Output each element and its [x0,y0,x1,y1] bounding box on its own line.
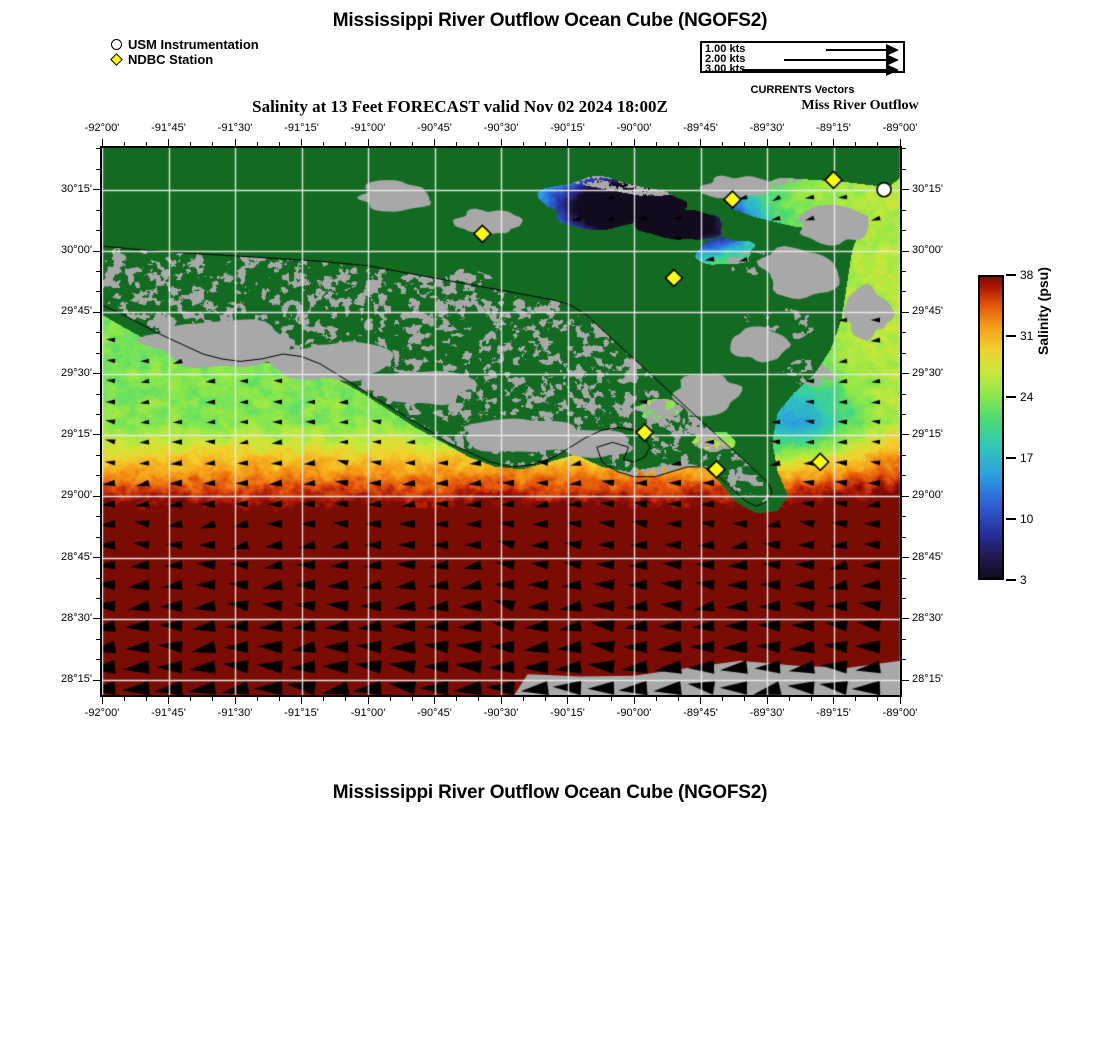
x-axis-label-top: -90°15' [536,122,600,134]
x-tick-bottom [368,697,369,704]
x-tick-bottom [478,697,479,701]
y-tick-right [902,271,906,272]
x-tick-bottom [124,697,125,701]
salinity-colorbar [978,275,1004,580]
salinity-field-canvas [102,148,900,695]
x-tick-top [434,139,435,146]
y-axis-label-right: 29°30' [912,367,966,379]
x-tick-bottom [877,697,878,701]
x-tick-top [900,139,901,146]
y-tick-left [93,251,100,252]
y-tick-right [902,475,906,476]
colorbar-tick-label: 3 [1020,574,1027,586]
colorbar-tick-label: 31 [1020,330,1033,342]
vector-key-row-3: 3.00 kts [702,65,903,75]
x-tick-bottom [744,697,745,701]
y-tick-right [902,373,909,374]
x-tick-bottom [567,697,568,704]
y-axis-label-left: 29°00' [38,489,92,501]
x-tick-bottom [146,697,147,701]
y-tick-right [902,516,906,517]
x-tick-bottom [767,697,768,704]
x-tick-bottom [456,697,457,701]
x-tick-top [678,142,679,146]
x-tick-bottom [301,697,302,704]
y-axis-label-right: 29°00' [912,489,966,501]
y-tick-left [93,557,100,558]
x-tick-bottom [833,697,834,704]
y-tick-left [93,373,100,374]
x-axis-label-bottom: -91°00' [336,707,400,719]
x-tick-top [611,142,612,146]
bottom-title: Mississippi River Outflow Ocean Cube (NG… [0,782,1100,804]
x-axis-label-bottom: -90°45' [403,707,467,719]
x-tick-bottom [855,697,856,701]
x-tick-bottom [190,697,191,701]
x-axis-label-bottom: -90°15' [536,707,600,719]
x-tick-top [567,139,568,146]
x-tick-bottom [611,697,612,701]
x-tick-top [146,142,147,146]
y-tick-right [902,659,906,660]
colorbar-tick-line [1006,274,1016,276]
page-title: Mississippi River Outflow Ocean Cube (NG… [0,10,1100,32]
legend-label-ndbc: NDBC Station [128,52,213,67]
y-tick-left [96,271,100,272]
x-axis-label-top: -91°45' [137,122,201,134]
y-tick-right [902,578,906,579]
y-tick-right [902,537,906,538]
legend-label-usm: USM Instrumentation [128,37,259,52]
x-tick-bottom [700,697,701,704]
x-tick-top [700,139,701,146]
x-tick-top [545,142,546,146]
y-tick-right [902,680,909,681]
y-tick-right [902,434,909,435]
x-axis-label-bottom: -91°45' [137,707,201,719]
y-axis-label-left: 28°30' [38,612,92,624]
y-tick-left [96,475,100,476]
x-tick-bottom [722,697,723,701]
y-tick-left [96,414,100,415]
x-tick-bottom [235,697,236,704]
colorbar-tick-label: 24 [1020,391,1033,403]
x-axis-label-bottom: -89°30' [735,707,799,719]
x-axis-label-bottom: -92°00' [70,707,134,719]
x-tick-top [589,142,590,146]
y-tick-left [96,169,100,170]
x-tick-bottom [412,697,413,701]
x-tick-top [212,142,213,146]
y-tick-right [902,210,906,211]
y-axis-label-left: 29°45' [38,305,92,317]
x-axis-label-top: -92°00' [70,122,134,134]
x-axis-label-top: -89°00' [868,122,932,134]
y-tick-left [93,680,100,681]
y-tick-right [902,639,906,640]
x-tick-bottom [323,697,324,701]
x-tick-bottom [589,697,590,701]
x-axis-label-bottom: -89°45' [669,707,733,719]
x-tick-top [323,142,324,146]
x-axis-label-bottom: -89°00' [868,707,932,719]
x-tick-bottom [212,697,213,701]
y-tick-left [93,312,100,313]
x-tick-bottom [257,697,258,701]
x-axis-label-bottom: -89°15' [802,707,866,719]
y-axis-label-left: 30°15' [38,183,92,195]
usm-circle-icon [110,38,124,52]
x-tick-top [390,142,391,146]
x-tick-top [722,142,723,146]
y-tick-left [96,353,100,354]
y-tick-right [902,230,906,231]
y-tick-right [902,312,909,313]
x-axis-label-bottom: -90°30' [469,707,533,719]
y-axis-label-left: 30°00' [38,244,92,256]
x-tick-top [855,142,856,146]
y-tick-right [902,353,906,354]
y-tick-left [96,148,100,149]
y-axis-label-left: 28°45' [38,551,92,563]
y-axis-label-right: 28°15' [912,673,966,685]
x-tick-top [523,142,524,146]
y-tick-right [902,148,906,149]
y-tick-left [96,639,100,640]
colorbar-tick-label: 10 [1020,513,1033,525]
x-tick-bottom [279,697,280,701]
x-axis-label-top: -89°15' [802,122,866,134]
x-tick-top [833,139,834,146]
y-tick-left [96,332,100,333]
x-tick-top [767,139,768,146]
colorbar-tick-label: 38 [1020,269,1033,281]
vector-arrowhead-3 [886,64,899,76]
x-tick-bottom [545,697,546,701]
x-axis-label-bottom: -91°30' [203,707,267,719]
y-axis-label-right: 29°45' [912,305,966,317]
x-tick-top [744,142,745,146]
colorbar-tick-line [1006,579,1016,581]
y-tick-left [96,578,100,579]
x-tick-bottom [789,697,790,701]
x-tick-bottom [501,697,502,704]
x-tick-top [301,139,302,146]
x-tick-top [634,139,635,146]
y-tick-right [902,598,906,599]
panel-label: Miss River Outflow [760,98,960,114]
x-tick-top [656,142,657,146]
marker-legend: USM Instrumentation NDBC Station [110,37,259,67]
y-tick-left [96,659,100,660]
x-tick-top [789,142,790,146]
vector-shaft-1 [826,49,888,51]
x-axis-label-top: -91°15' [270,122,334,134]
y-tick-right [902,618,909,619]
y-tick-left [93,189,100,190]
colorbar-tick-line [1006,396,1016,398]
y-tick-right [902,394,906,395]
plot-subtitle: Salinity at 13 Feet FORECAST valid Nov 0… [100,97,820,117]
x-tick-top [877,142,878,146]
x-tick-bottom [900,697,901,704]
x-axis-label-bottom: -90°00' [602,707,666,719]
vector-key-label-3: 3.00 kts [705,64,745,75]
y-tick-right [902,332,906,333]
x-tick-bottom [811,697,812,701]
x-tick-bottom [102,697,103,704]
colorbar-tick-line [1006,457,1016,459]
y-tick-left [93,434,100,435]
x-tick-top [124,142,125,146]
x-axis-label-top: -91°00' [336,122,400,134]
y-axis-label-right: 28°45' [912,551,966,563]
y-tick-right [902,189,909,190]
x-tick-top [168,139,169,146]
vector-key-caption: CURRENTS Vectors [700,84,905,96]
y-tick-right [902,557,909,558]
x-tick-top [190,142,191,146]
x-tick-top [811,142,812,146]
vector-shaft-3 [742,69,888,71]
y-tick-left [96,537,100,538]
y-axis-label-right: 30°00' [912,244,966,256]
x-tick-bottom [678,697,679,701]
colorbar-axis-title: Salinity (psu) [1035,267,1051,355]
y-tick-right [902,414,906,415]
colorbar-tick-label: 17 [1020,452,1033,464]
x-tick-bottom [523,697,524,701]
legend-item-usm: USM Instrumentation [110,37,259,52]
x-axis-label-top: -89°45' [669,122,733,134]
y-axis-label-right: 28°30' [912,612,966,624]
y-tick-right [902,291,906,292]
x-tick-top [102,139,103,146]
x-tick-top [279,142,280,146]
x-tick-bottom [656,697,657,701]
ndbc-diamond-icon [110,53,124,67]
y-tick-left [96,598,100,599]
y-tick-left [93,618,100,619]
y-axis-label-left: 29°30' [38,367,92,379]
x-tick-bottom [434,697,435,704]
x-tick-top [501,139,502,146]
x-tick-bottom [168,697,169,704]
x-tick-top [345,142,346,146]
y-tick-right [902,496,909,497]
colorbar-tick-line [1006,518,1016,520]
y-axis-label-left: 29°15' [38,428,92,440]
legend-item-ndbc: NDBC Station [110,52,259,67]
salinity-map[interactable] [100,146,902,697]
y-tick-right [902,169,906,170]
x-axis-label-top: -90°45' [403,122,467,134]
x-axis-label-top: -91°30' [203,122,267,134]
x-tick-top [456,142,457,146]
x-tick-top [412,142,413,146]
y-tick-left [96,455,100,456]
x-axis-label-bottom: -91°15' [270,707,334,719]
x-tick-bottom [345,697,346,701]
y-tick-right [902,251,909,252]
y-tick-left [96,291,100,292]
x-tick-top [257,142,258,146]
colorbar-tick-line [1006,335,1016,337]
x-tick-top [478,142,479,146]
currents-vector-key: 1.00 kts 2.00 kts 3.00 kts [700,41,905,73]
x-tick-bottom [634,697,635,704]
y-tick-left [96,210,100,211]
x-axis-label-top: -89°30' [735,122,799,134]
y-tick-left [96,230,100,231]
y-axis-label-right: 29°15' [912,428,966,440]
y-tick-left [96,394,100,395]
x-tick-top [368,139,369,146]
y-axis-label-left: 28°15' [38,673,92,685]
x-axis-label-top: -90°00' [602,122,666,134]
y-axis-label-right: 30°15' [912,183,966,195]
vector-shaft-2 [784,59,888,61]
x-tick-top [235,139,236,146]
y-tick-right [902,455,906,456]
y-tick-left [96,516,100,517]
x-axis-label-top: -90°30' [469,122,533,134]
x-tick-bottom [390,697,391,701]
y-tick-left [93,496,100,497]
